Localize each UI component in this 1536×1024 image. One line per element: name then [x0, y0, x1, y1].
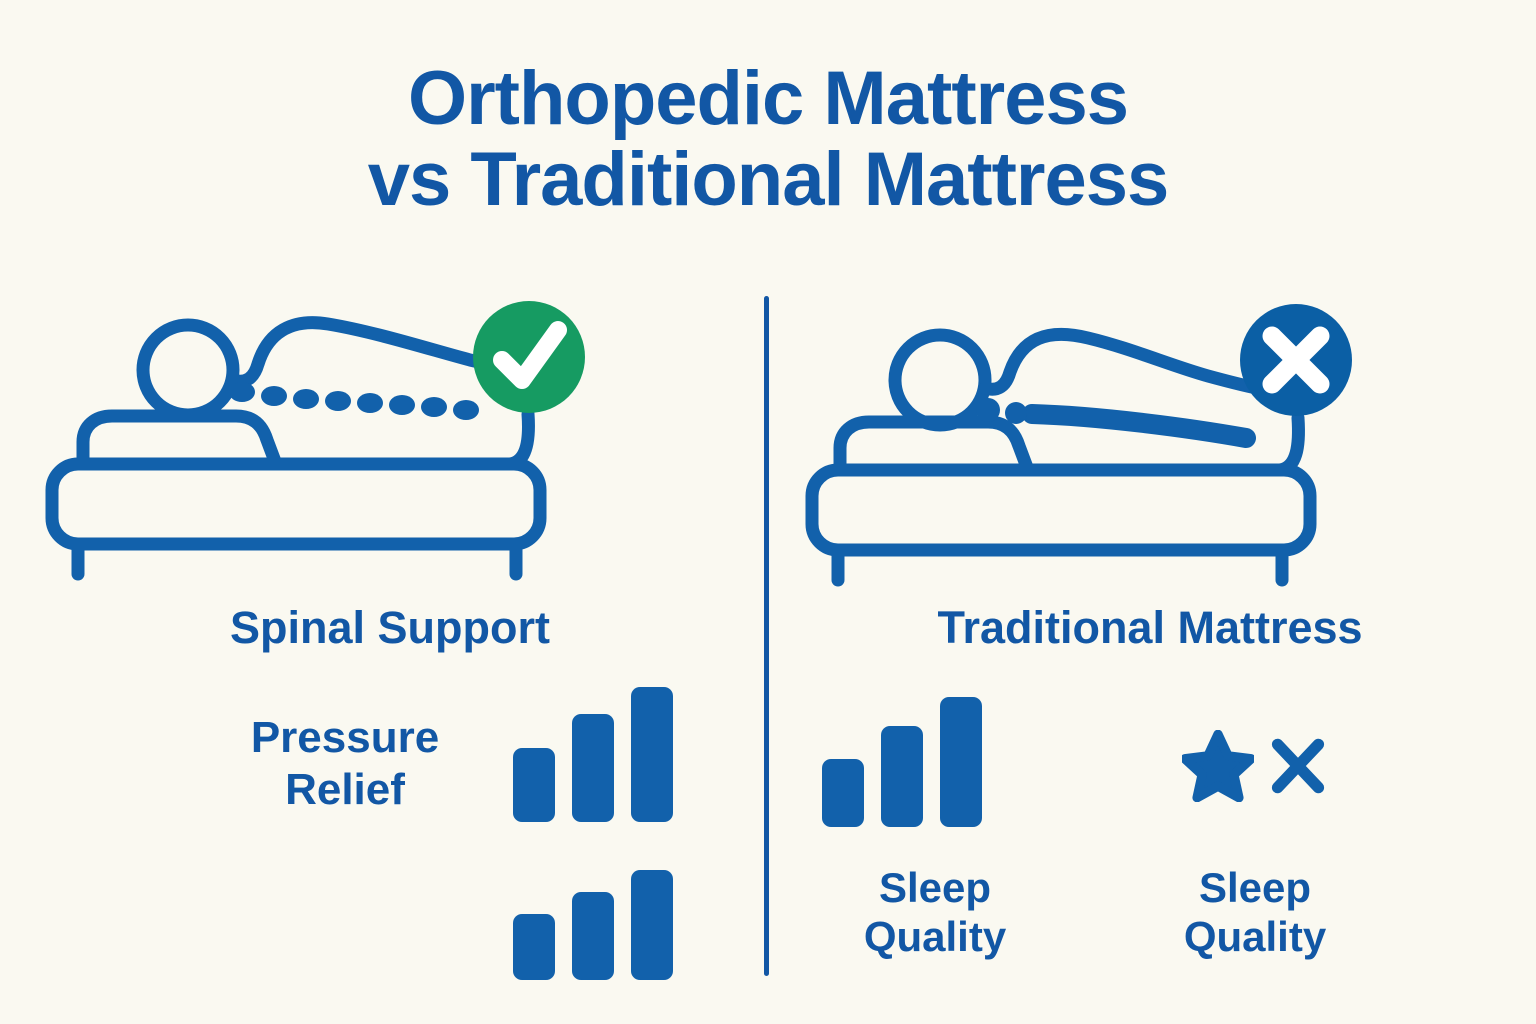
spine-dots-aligned [229, 382, 479, 420]
bar-1 [513, 748, 555, 822]
secondary-bar-chart [513, 870, 673, 980]
sleeper-head-icon [143, 325, 233, 415]
sleep-quality-label-1: Sleep Quality [820, 864, 1050, 961]
sleeper-body-outline [985, 334, 1266, 390]
traditional-mattress-illustration [800, 292, 1500, 592]
blanket-edge-curve [510, 414, 528, 464]
bar-3 [631, 870, 673, 980]
left-panel-caption: Spinal Support [40, 602, 740, 654]
bar-1 [822, 759, 864, 827]
bar-3 [631, 687, 673, 822]
orthopedic-mattress-illustration [40, 292, 740, 592]
pressure-relief-bar-chart [513, 687, 673, 822]
bar-2 [572, 892, 614, 980]
blanket-edge-curve [1280, 418, 1298, 470]
check-badge-icon [473, 301, 585, 413]
spine-line-sagging [1032, 414, 1246, 438]
sleep-quality-bar-chart [822, 697, 982, 827]
x-mark-icon [1268, 733, 1328, 799]
infographic-canvas: Orthopedic Mattress vs Traditional Mattr… [0, 0, 1536, 1024]
sleep-quality-label-2: Sleep Quality [1140, 864, 1370, 961]
bar-2 [572, 714, 614, 822]
pressure-relief-label: Pressure Relief [190, 712, 500, 816]
left-panel-orthopedic: Spinal Support Pressure Relief [40, 292, 740, 992]
sleeper-head-icon [895, 335, 985, 425]
cross-badge-icon [1240, 304, 1352, 416]
page-title: Orthopedic Mattress vs Traditional Mattr… [0, 58, 1536, 221]
mattress-body [52, 464, 540, 544]
vertical-divider [764, 296, 769, 976]
bar-1 [513, 914, 555, 980]
right-panel-traditional: Traditional Mattress Sleep Quality Sleep… [800, 292, 1500, 992]
bar-3 [940, 697, 982, 827]
bar-2 [881, 726, 923, 827]
rating-icons-row [1182, 730, 1328, 802]
title-line-1: Orthopedic Mattress [0, 58, 1536, 139]
pillow-icon [83, 416, 276, 464]
title-line-2: vs Traditional Mattress [0, 139, 1536, 220]
mattress-body [812, 470, 1310, 550]
right-panel-caption: Traditional Mattress [800, 602, 1500, 654]
star-icon [1182, 730, 1254, 802]
